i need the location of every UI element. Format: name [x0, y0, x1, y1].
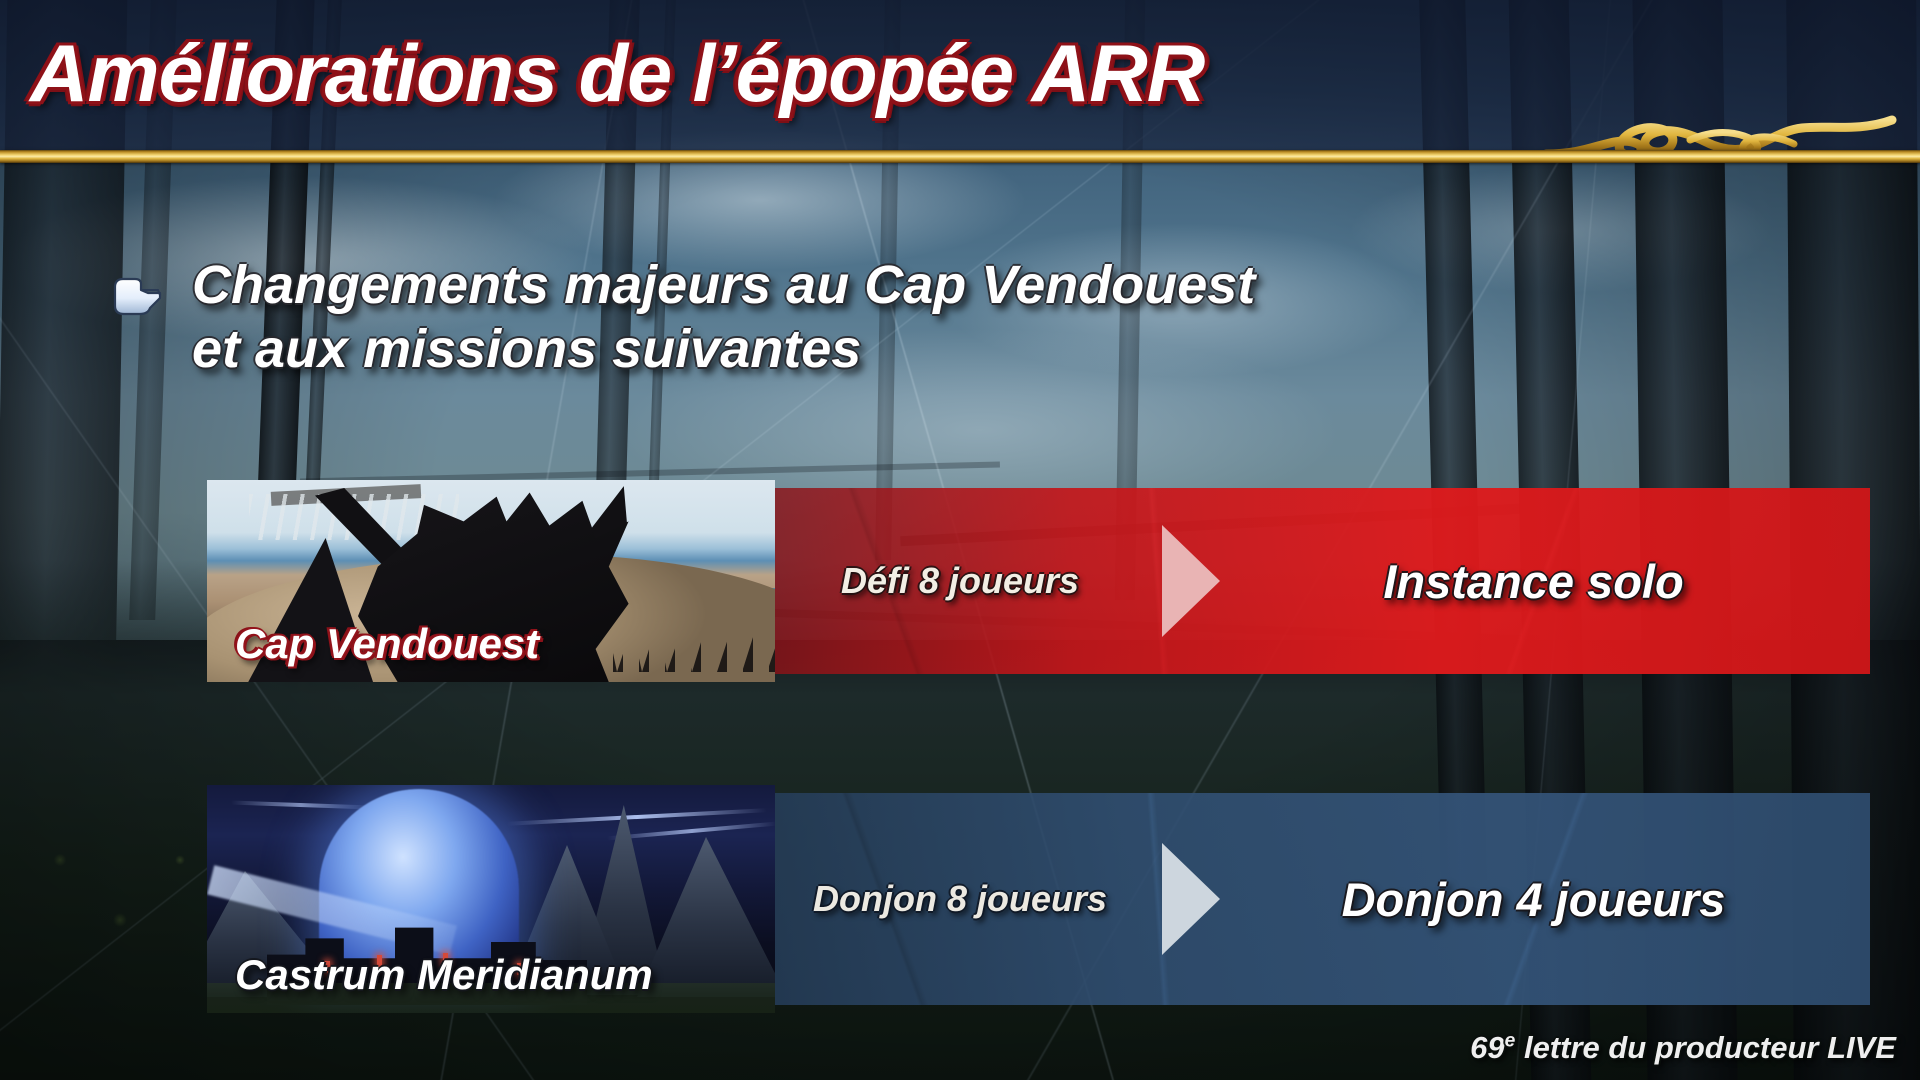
artwork-glow-streak	[507, 808, 767, 826]
thumbnail-caption: Castrum Meridianum	[235, 951, 653, 999]
arrow-right-icon	[1145, 523, 1237, 639]
from-label: Défi 8 joueurs	[775, 560, 1145, 602]
slide-root: Améliorations de l’épopée ARR	[0, 0, 1920, 1080]
to-label: Instance solo	[1237, 554, 1870, 609]
thumbnail-cap-vendouest: Cap Vendouest	[207, 480, 775, 682]
thumbnail-caption: Cap Vendouest	[235, 620, 539, 668]
artwork-glow-streak	[231, 801, 371, 810]
page-title: Améliorations de l’épopée ARR	[30, 34, 1204, 115]
arrow-right-icon	[1145, 841, 1237, 957]
gold-divider-rule	[0, 150, 1920, 163]
comparison-row-cap-vendouest: Cap Vendouest Défi 8 joueurs Instance so…	[207, 488, 1870, 674]
comparison-row-castrum-meridianum: Castrum Meridianum Donjon 8 joueurs Donj…	[207, 793, 1870, 1005]
subtitle-line-2: et aux missions suivantes	[192, 318, 1255, 382]
footer-number: 69	[1470, 1030, 1504, 1065]
subtitle-text: Changements majeurs au Cap Vendouest et …	[192, 254, 1255, 381]
artwork-glow-streak	[607, 822, 775, 841]
footer-credit: 69e lettre du producteur LIVE	[1470, 1030, 1896, 1066]
artwork-mountain-peak	[637, 837, 775, 997]
thumbnail-castrum-meridianum: Castrum Meridianum	[207, 785, 775, 1013]
subtitle-line-1: Changements majeurs au Cap Vendouest	[192, 255, 1255, 315]
row-body-cap-vendouest: Défi 8 joueurs Instance solo	[775, 488, 1870, 674]
footer-text: lettre du producteur LIVE	[1515, 1030, 1896, 1065]
from-label: Donjon 8 joueurs	[775, 878, 1145, 920]
footer-ordinal-suffix: e	[1505, 1031, 1516, 1052]
row-body-castrum-meridianum: Donjon 8 joueurs Donjon 4 joueurs	[775, 793, 1870, 1005]
to-label: Donjon 4 joueurs	[1237, 872, 1870, 927]
pointing-hand-icon	[110, 276, 164, 320]
